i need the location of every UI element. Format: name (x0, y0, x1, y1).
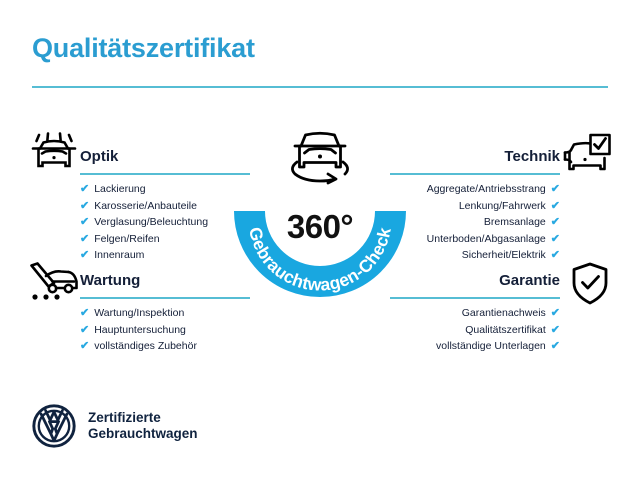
list-item: Garantienachweis✔ (390, 305, 560, 322)
list-item-label: Felgen/Reifen (94, 231, 159, 248)
section-technik-header: Technik (390, 148, 560, 174)
check-icon: ✔ (551, 181, 560, 198)
list-item-label: vollständiges Zubehör (94, 338, 197, 355)
list-item: ✔Felgen/Reifen (80, 231, 250, 248)
list-item-label: Qualitätszertifikat (465, 322, 546, 339)
check-icon: ✔ (551, 322, 560, 339)
check-icon: ✔ (80, 338, 89, 355)
volkswagen-logo (32, 404, 76, 448)
section-optik-title: Optik (80, 148, 118, 165)
list-item-label: Karosserie/Anbauteile (94, 198, 197, 215)
list-item-label: Innenraum (94, 247, 144, 264)
check-icon: ✔ (551, 338, 560, 355)
check-icon: ✔ (80, 214, 89, 231)
list-item: Aggregate/Antriebsstrang✔ (390, 181, 560, 198)
list-item-label: Lenkung/Fahrwerk (459, 198, 546, 215)
section-wartung-list: ✔Wartung/Inspektion ✔Hauptuntersuchung ✔… (80, 305, 250, 355)
check-icon: ✔ (551, 305, 560, 322)
list-item: ✔Wartung/Inspektion (80, 305, 250, 322)
car-service-pen-icon (27, 262, 81, 311)
list-item-label: vollständige Unterlagen (436, 338, 546, 355)
list-item: ✔Karosserie/Anbauteile (80, 198, 250, 215)
list-item-label: Unterboden/Abgasanlage (427, 231, 546, 248)
footer-brand: Zertifizierte Gebrauchtwagen (32, 404, 198, 448)
check-icon: ✔ (80, 322, 89, 339)
footer-brand-text: Zertifizierte Gebrauchtwagen (88, 410, 198, 442)
badge-360-gebrauchtwagen-check: Gebrauchtwagen-Check 360° (227, 126, 413, 312)
section-technik-divider (390, 173, 560, 175)
list-item: ✔Lackierung (80, 181, 250, 198)
list-item-label: Hauptuntersuchung (94, 322, 186, 339)
list-item-label: Wartung/Inspektion (94, 305, 184, 322)
section-garantie-list: Garantienachweis✔ Qualitätszertifikat✔ v… (390, 305, 560, 355)
section-garantie-title: Garantie (499, 272, 560, 289)
section-garantie-divider (390, 297, 560, 299)
section-optik-divider (80, 173, 250, 175)
section-garantie-header: Garantie (390, 272, 560, 298)
car-rotation-icon (281, 124, 359, 186)
check-icon: ✔ (80, 181, 89, 198)
list-item: ✔Hauptuntersuchung (80, 322, 250, 339)
list-item: Lenkung/Fahrwerk✔ (390, 198, 560, 215)
list-item: Sicherheit/Elektrik✔ (390, 247, 560, 264)
section-technik-list: Aggregate/Antriebsstrang✔ Lenkung/Fahrwe… (390, 181, 560, 264)
section-technik: Technik Aggregate/Antriebsstrang✔ Lenkun… (390, 148, 560, 174)
check-icon: ✔ (551, 247, 560, 264)
check-icon: ✔ (551, 214, 560, 231)
list-item: Bremsanlage✔ (390, 214, 560, 231)
list-item: Unterboden/Abgasanlage✔ (390, 231, 560, 248)
car-shine-icon (29, 132, 79, 181)
list-item: ✔Verglasung/Beleuchtung (80, 214, 250, 231)
page-title: Qualitätszertifikat (32, 33, 255, 64)
check-icon: ✔ (551, 231, 560, 248)
list-item-label: Garantienachweis (462, 305, 546, 322)
check-icon: ✔ (80, 247, 89, 264)
list-item-label: Lackierung (94, 181, 145, 198)
list-item: ✔Innenraum (80, 247, 250, 264)
section-wartung-title: Wartung (80, 272, 140, 289)
check-icon: ✔ (80, 198, 89, 215)
list-item: ✔vollständiges Zubehör (80, 338, 250, 355)
check-icon: ✔ (80, 231, 89, 248)
footer-line-2: Gebrauchtwagen (88, 426, 198, 442)
shield-check-icon (570, 262, 610, 311)
section-wartung-header: Wartung (80, 272, 250, 298)
section-optik-header: Optik (80, 148, 250, 174)
list-item-label: Sicherheit/Elektrik (462, 247, 546, 264)
section-garantie: Garantie Garantienachweis✔ Qualitätszert… (390, 272, 560, 298)
title-divider (32, 86, 608, 88)
list-item: Qualitätszertifikat✔ (390, 322, 560, 339)
section-wartung-divider (80, 297, 250, 299)
list-item-label: Aggregate/Antriebsstrang (427, 181, 546, 198)
section-optik: Optik ✔Lackierung ✔Karosserie/Anbauteile… (80, 148, 250, 174)
list-item: vollständige Unterlagen✔ (390, 338, 560, 355)
list-item-label: Verglasung/Beleuchtung (94, 214, 208, 231)
list-item-label: Bremsanlage (484, 214, 546, 231)
section-technik-title: Technik (504, 148, 560, 165)
footer-line-1: Zertifizierte (88, 410, 198, 426)
section-wartung: Wartung ✔Wartung/Inspektion ✔Hauptunters… (80, 272, 250, 298)
certificate-page: Qualitätszertifikat Optik ✔Lackierung ✔K… (0, 0, 640, 480)
check-icon: ✔ (80, 305, 89, 322)
check-icon: ✔ (551, 198, 560, 215)
section-optik-list: ✔Lackierung ✔Karosserie/Anbauteile ✔Verg… (80, 181, 250, 264)
car-checkbox-icon (562, 133, 612, 182)
